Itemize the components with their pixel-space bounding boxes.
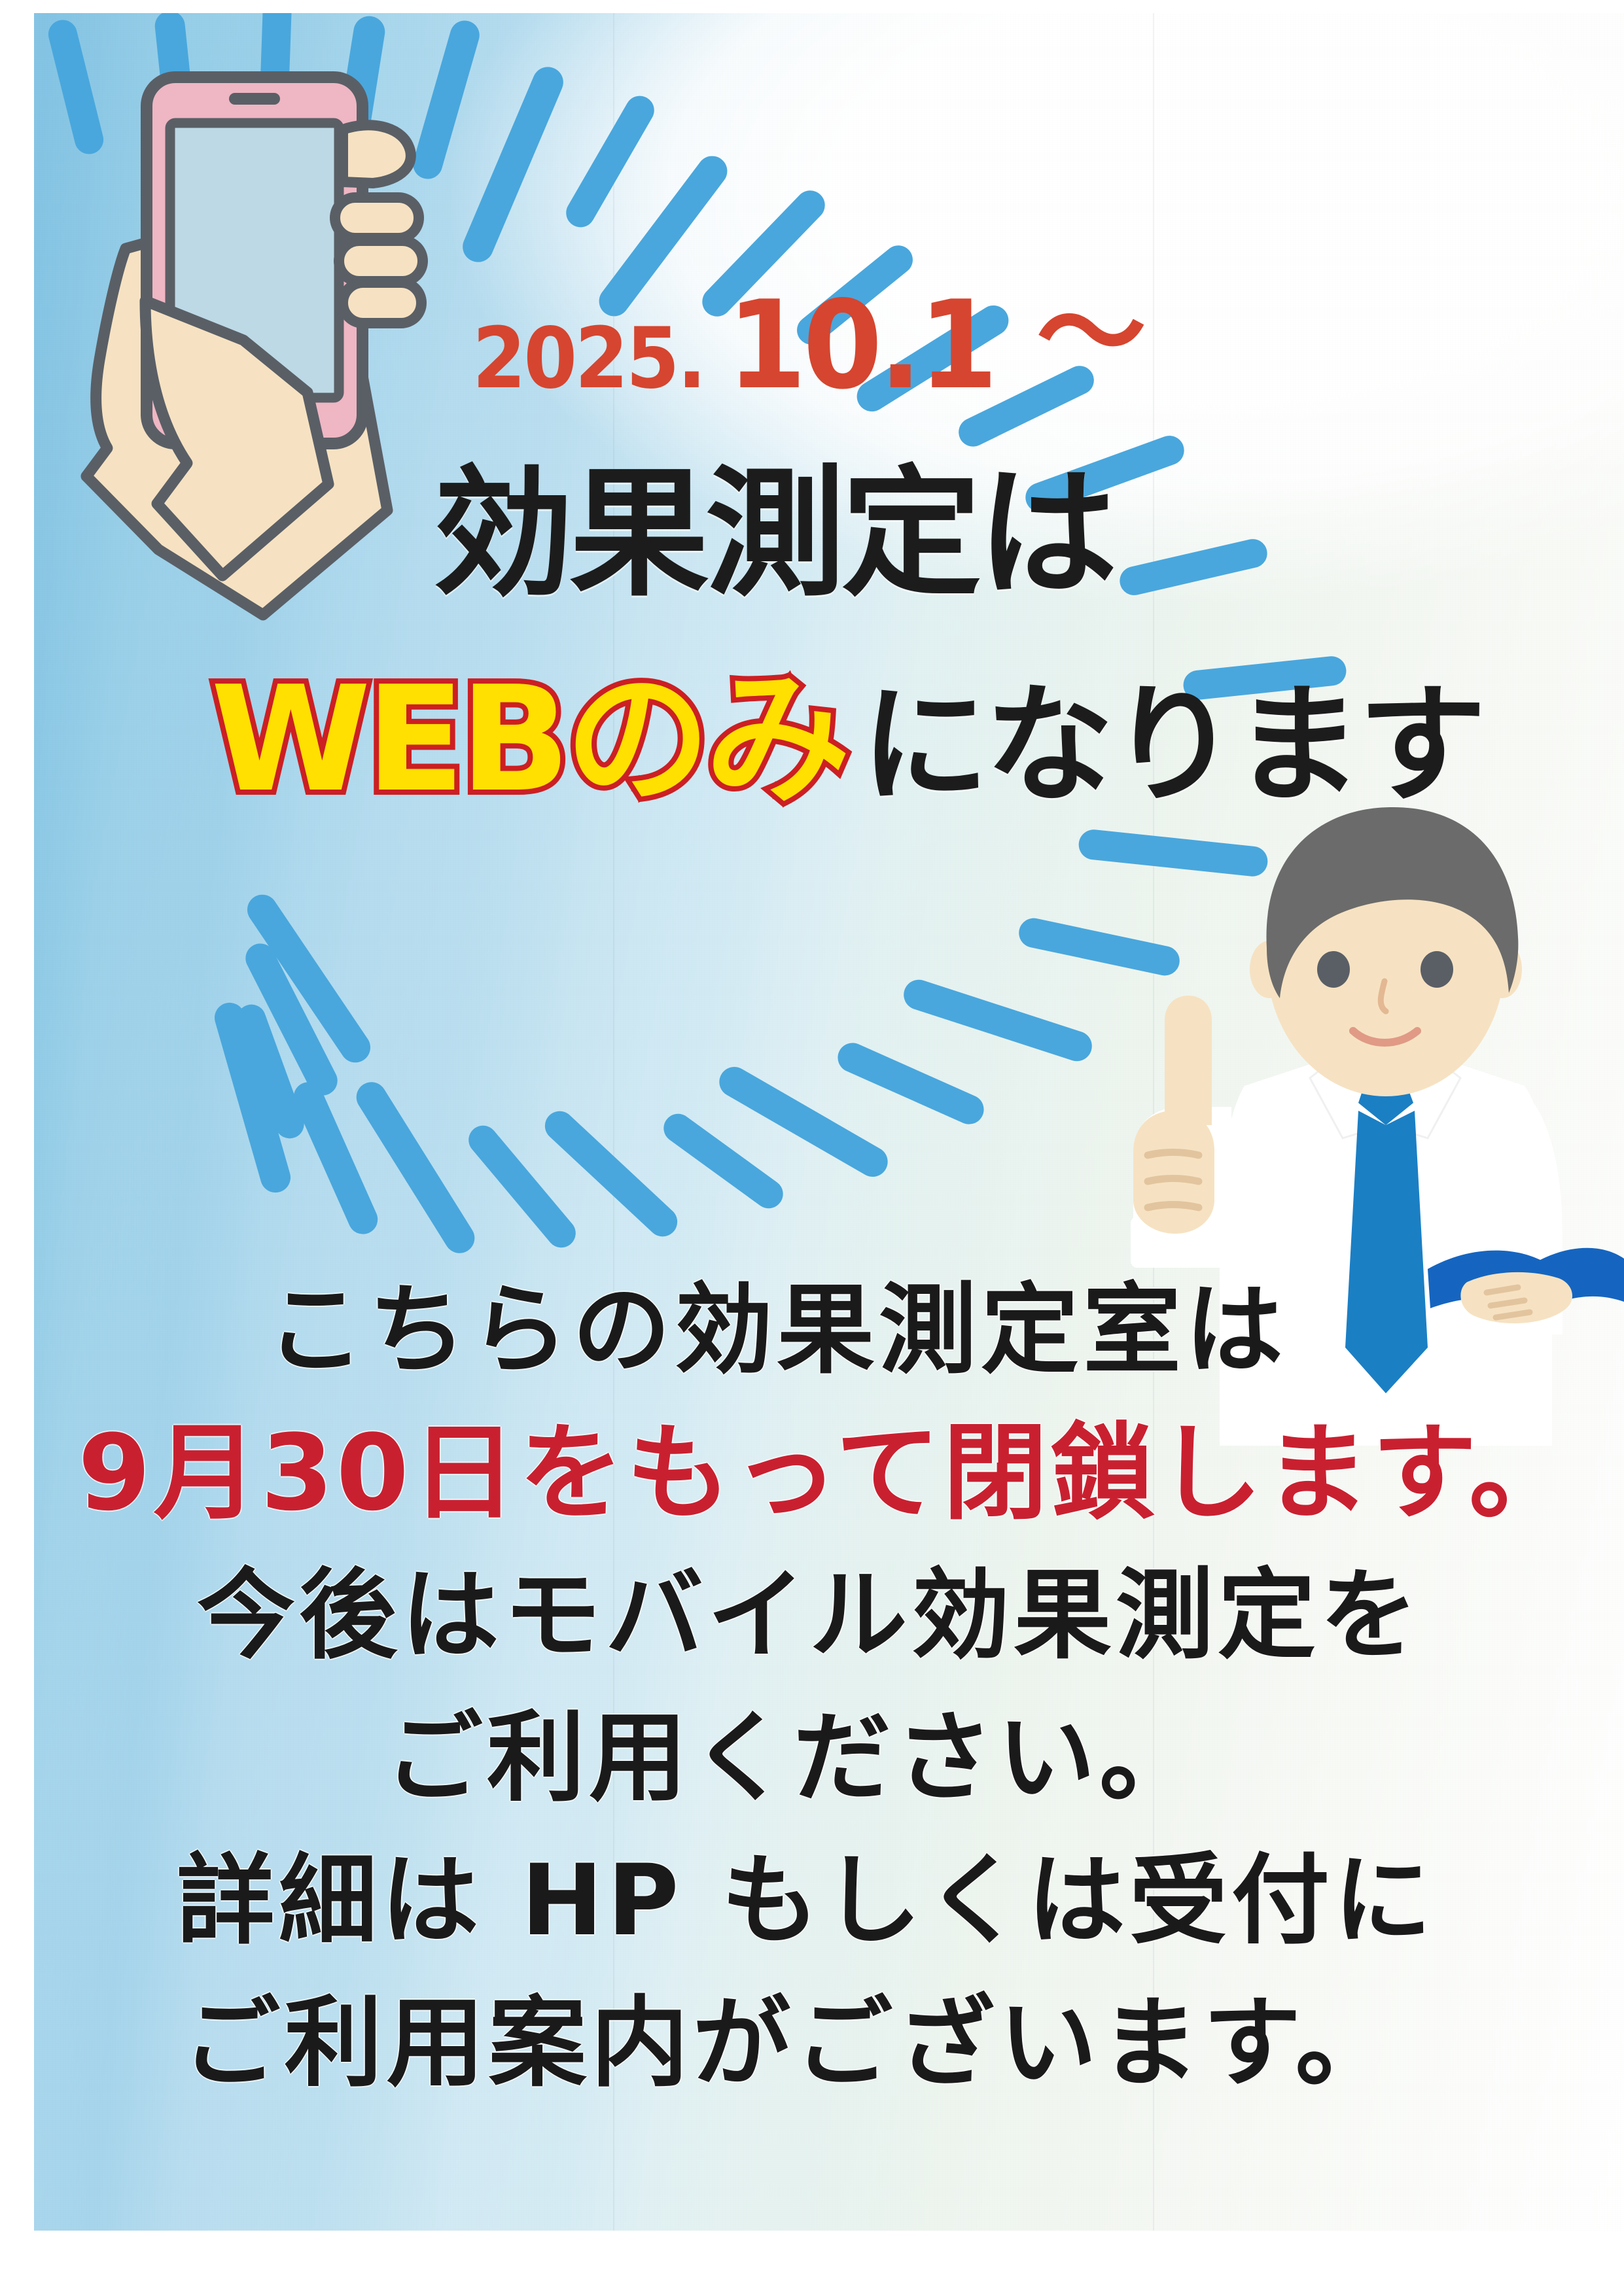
burst-dash (561, 91, 660, 233)
burst-dash (658, 1108, 789, 1214)
body-line-5: 詳細は HP もしくは受付に (34, 1830, 1624, 1972)
burst-dash (1117, 536, 1270, 599)
hand-holding-smartphone-icon (47, 52, 453, 628)
date-year: 2025. (472, 310, 704, 408)
poster-root: 2025. 10.1 〜 効果測定は WEBのみ になります こちらの効果測定室… (0, 0, 1624, 2296)
body-text-block: こちらの効果測定室は 9月30日をもって閉鎖します。 今後はモバイル効果測定を … (34, 1259, 1624, 2115)
headline-highlight-web: WEBのみ (211, 667, 845, 812)
body-line-1: こちらの効果測定室は (34, 1259, 1624, 1402)
poster-sheet: 2025. 10.1 〜 効果測定は WEBのみ になります こちらの効果測定室… (34, 13, 1624, 2231)
date-tilde-icon: 〜 (1036, 245, 1146, 404)
body-line-3: 今後はモバイル効果測定を (34, 1544, 1624, 1687)
headline-line-1: 効果測定は (433, 464, 1114, 604)
burst-dash (458, 62, 568, 267)
date-day: 10.1 (727, 274, 995, 416)
burst-dash (833, 1038, 989, 1129)
date-banner: 2025. 10.1 〜 (472, 260, 1146, 419)
body-line-2: 9月30日をもって閉鎖します。 (34, 1402, 1624, 1544)
body-line-4: ご利用ください。 (34, 1687, 1624, 1830)
body-line-6: ご利用案内がございます。 (34, 1972, 1624, 2115)
headline-line-2: WEBのみ になります (211, 667, 1483, 812)
headline-line-2-tail: になります (861, 682, 1483, 810)
